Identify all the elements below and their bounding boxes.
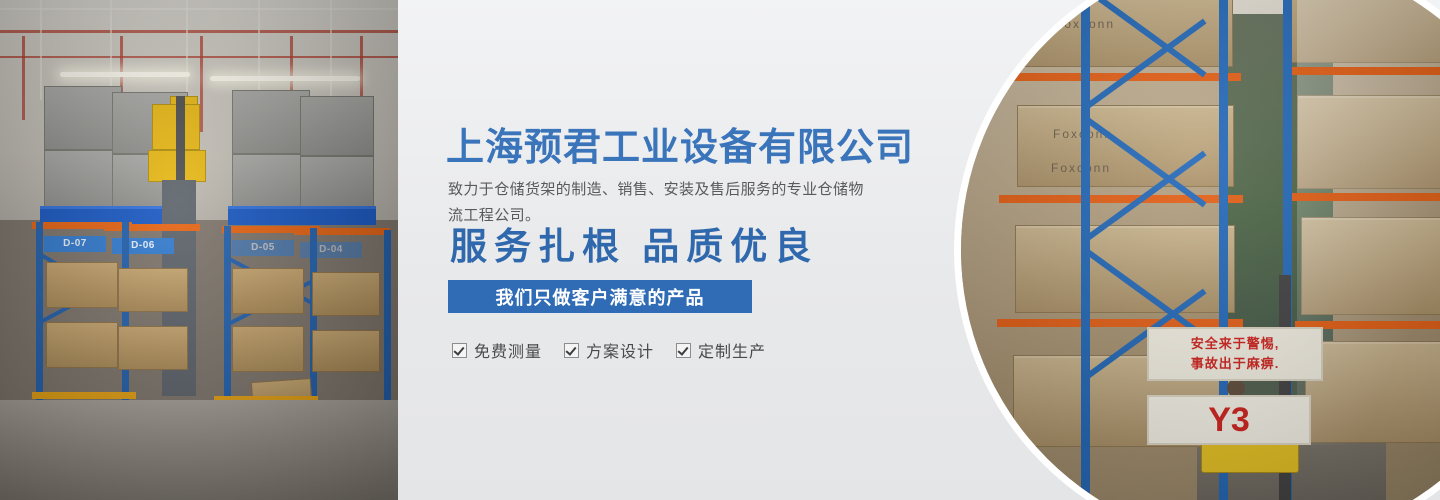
carton-box	[46, 262, 118, 308]
carton-box	[46, 322, 118, 368]
company-description: 致力于仓储货架的制造、销售、安装及售后服务的专业仓储物流工程公司。	[448, 177, 868, 229]
left-warehouse-photo: D-07 D-06 D-05 D-04	[0, 0, 398, 500]
feature-item-free-measure: 免费测量	[452, 338, 542, 362]
rack-upright	[384, 230, 391, 402]
feature-item-custom-production: 定制生产	[676, 338, 766, 362]
checkbox-check-icon	[676, 343, 691, 358]
stacked-crate	[232, 154, 310, 208]
carton-box	[232, 326, 304, 372]
right-photo-wrap: Foxconn Foxconn Foxconn	[920, 0, 1440, 500]
rack-beam	[104, 224, 200, 231]
stacked-crate	[44, 150, 122, 208]
roof-beam	[0, 30, 398, 33]
stacked-crate	[232, 90, 310, 154]
right-warehouse-photo: Foxconn Foxconn Foxconn	[961, 0, 1440, 500]
hero-banner: D-07 D-06 D-05 D-04	[0, 0, 1440, 500]
feature-item-scheme-design: 方案设计	[564, 338, 654, 362]
feature-label: 定制生产	[698, 338, 766, 362]
roof-purlin	[330, 0, 332, 110]
stacked-crate	[300, 156, 374, 208]
checkbox-check-icon	[564, 343, 579, 358]
rack-upright	[122, 222, 129, 402]
hanger-rod	[22, 36, 25, 120]
warehouse-floor	[0, 400, 398, 500]
carton-box	[312, 330, 380, 372]
company-slogan: 服务扎根 品质优良	[450, 224, 818, 272]
hanger-rod	[200, 36, 203, 132]
cta-button[interactable]: 我们只做客户满意的产品	[448, 280, 752, 313]
photo-vignette	[961, 0, 1440, 500]
rack-guard	[32, 392, 136, 399]
checkbox-check-icon	[452, 343, 467, 358]
carton-box	[118, 268, 188, 312]
roof-purlin	[40, 0, 42, 100]
bay-label: D-05	[232, 240, 294, 256]
feature-label: 免费测量	[474, 338, 542, 362]
ceiling-light	[210, 76, 360, 81]
carton-box	[232, 268, 304, 314]
blue-pallet	[296, 206, 376, 225]
roof-beam	[0, 56, 398, 58]
rack-beam	[294, 228, 390, 235]
rack-upright	[224, 226, 231, 402]
page-title: 上海预君工业设备有限公司	[446, 125, 914, 171]
carton-box	[312, 272, 380, 316]
feature-list: 免费测量 方案设计 定制生产	[452, 338, 766, 362]
bay-label: D-07	[44, 236, 106, 252]
carton-box	[118, 326, 188, 370]
stacked-crate	[44, 86, 122, 150]
rack-upright	[36, 222, 43, 402]
feature-label: 方案设计	[586, 338, 654, 362]
banner-content: 上海预君工业设备有限公司 致力于仓储货架的制造、销售、安装及售后服务的专业仓储物…	[446, 0, 916, 500]
stacked-crate	[300, 96, 374, 156]
ceiling-light	[60, 72, 190, 77]
roof-purlin	[0, 8, 398, 10]
